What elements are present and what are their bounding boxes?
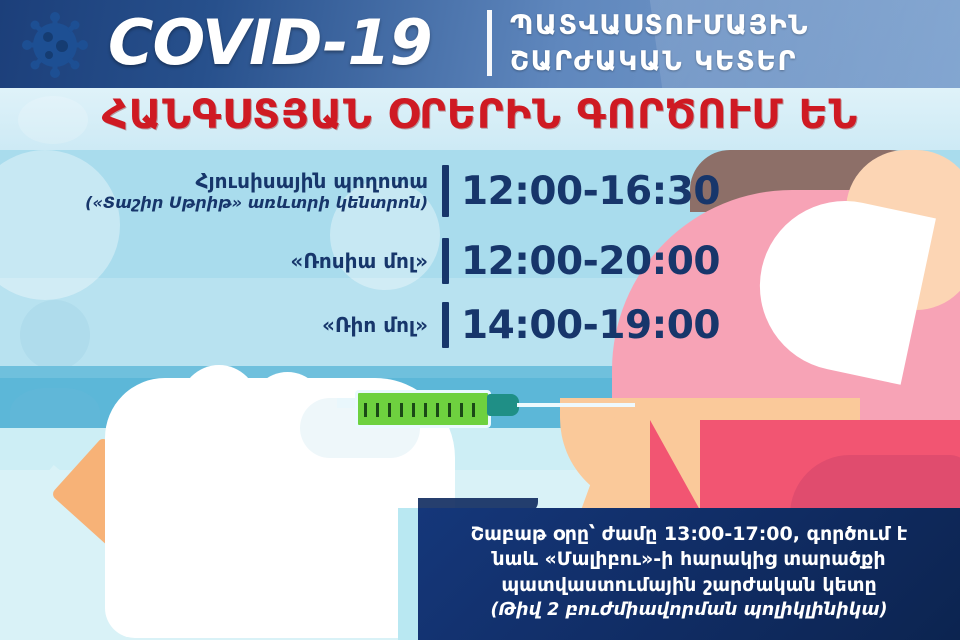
footer-note: Շաբաթ օրը՝ ժամը 13:00-17:00, գործում է ն… bbox=[418, 508, 960, 640]
footer-note-line1: Շաբաթ օրը՝ ժամը 13:00-17:00, գործում է bbox=[418, 522, 960, 547]
footer-note-line2: նաև «Մալիբու»-ի հարակից տարածքի bbox=[418, 547, 960, 572]
schedule-time: 14:00-19:00 bbox=[449, 303, 720, 348]
note-side-strip bbox=[398, 508, 420, 640]
syringe-icon bbox=[335, 382, 635, 428]
poster: COVID-19 ՊԱՏՎԱՍՏՈՒՄԱՅԻՆ ՇԱՐԺԱԿԱՆ ԿԵՏԵՐ Հ… bbox=[0, 0, 960, 640]
footer-note-line3: պատվաստումային շարժական կետը bbox=[418, 573, 960, 598]
header-subtitle-line1: ՊԱՏՎԱՍՏՈՒՄԱՅԻՆ bbox=[510, 8, 950, 44]
schedule-divider bbox=[442, 302, 449, 348]
schedule-divider bbox=[442, 238, 449, 284]
schedule-row: «Ռոսիա մոլ» 12:00-20:00 bbox=[0, 232, 720, 290]
schedule-location: Հյուսիսային պողոտա («Տաշիր Սթրիթ» առևտրի… bbox=[85, 170, 442, 212]
header-subtitle-line2: ՇԱՐԺԱԿԱՆ ԿԵՏԵՐ bbox=[510, 44, 950, 80]
footer-note-line4: (Թիվ 2 բուժմիավորման պոլիկլինիկա) bbox=[418, 600, 960, 620]
schedule-location-name: «Ռոսիա մոլ» bbox=[290, 250, 428, 273]
syringe-tip bbox=[487, 394, 519, 416]
schedule-time: 12:00-20:00 bbox=[449, 239, 720, 284]
schedule-row: Հյուսիսային պողոտա («Տաշիր Սթրիթ» առևտրի… bbox=[0, 160, 720, 222]
coronavirus-icon bbox=[18, 10, 92, 80]
schedule-location-detail: («Տաշիր Սթրիթ» առևտրի կենտրոն) bbox=[85, 193, 428, 212]
schedule-list: Հյուսիսային պողոտա («Տաշիր Սթրիթ» առևտրի… bbox=[0, 160, 720, 354]
syringe-needle bbox=[517, 403, 635, 407]
syringe-barrel bbox=[355, 390, 491, 428]
schedule-location: «Ռոսիա մոլ» bbox=[290, 250, 442, 273]
schedule-time: 12:00-16:30 bbox=[449, 169, 720, 214]
schedule-location: «Ռիո մոլ» bbox=[322, 314, 442, 337]
poster-header: COVID-19 ՊԱՏՎԱՍՏՈՒՄԱՅԻՆ ՇԱՐԺԱԿԱՆ ԿԵՏԵՐ bbox=[0, 0, 960, 88]
schedule-row: «Ռիո մոլ» 14:00-19:00 bbox=[0, 296, 720, 354]
headline-text: ՀԱՆԳՍՏՅԱՆ ՕՐԵՐԻՆ ԳՈՐԾՈՒՄ ԵՆ bbox=[0, 92, 960, 138]
title-divider bbox=[487, 10, 492, 76]
schedule-location-name: Հյուսիսային պողոտա bbox=[85, 170, 428, 193]
header-subtitle: ՊԱՏՎԱՍՏՈՒՄԱՅԻՆ ՇԱՐԺԱԿԱՆ ԿԵՏԵՐ bbox=[510, 8, 950, 79]
schedule-location-name: «Ռիո մոլ» bbox=[322, 314, 428, 337]
schedule-divider bbox=[442, 165, 449, 217]
page-title: COVID-19 bbox=[108, 6, 432, 79]
